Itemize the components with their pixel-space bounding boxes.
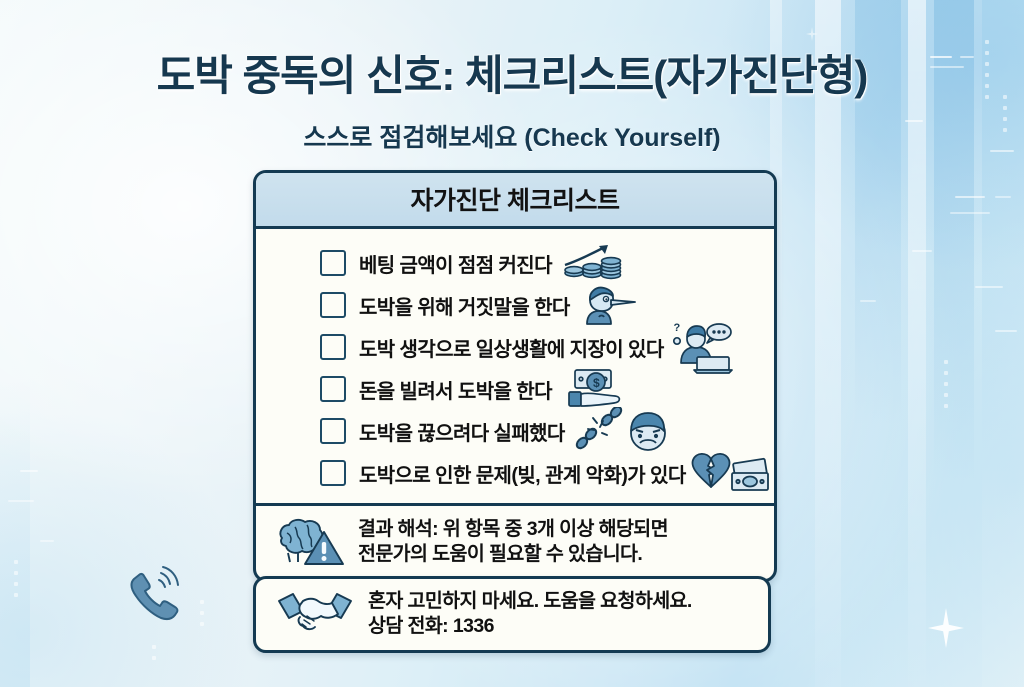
checklist-item[interactable]: 도박을 끊으려다 실패했다	[256, 410, 774, 452]
checklist-card: 자가진단 체크리스트 베팅 금액이 점점 커진다	[253, 170, 777, 582]
tech-band	[0, 380, 30, 687]
checkbox[interactable]	[320, 460, 346, 486]
checkbox[interactable]	[320, 334, 346, 360]
tech-band	[815, 0, 841, 687]
hand-money-icon: $	[559, 367, 627, 411]
checkbox[interactable]	[320, 418, 346, 444]
svg-text:$: $	[593, 376, 600, 390]
tech-tick	[20, 470, 38, 472]
tech-band	[855, 0, 901, 687]
help-text: 혼자 고민하지 마세요. 도움을 요청하세요. 상담 전화: 1336	[368, 589, 692, 639]
svg-text:?: ?	[673, 322, 680, 334]
checklist-item-label: 베팅 금액이 점점 커진다	[359, 249, 552, 278]
ringing-phone-icon	[128, 565, 186, 625]
checklist-item-label: 도박을 끊으려다 실패했다	[359, 417, 565, 446]
handshake-icon	[276, 589, 354, 639]
tech-dot-column	[200, 600, 204, 633]
rising-coins-icon	[559, 243, 625, 283]
checklist-item[interactable]: 베팅 금액이 점점 커진다	[256, 242, 774, 284]
tech-tick	[995, 196, 1011, 198]
tech-tick	[995, 330, 1017, 332]
result-interpretation-row: 결과 해석: 위 항목 중 3개 이상 해당되면 전문가의 도움이 필요할 수 …	[256, 503, 774, 579]
checklist-item[interactable]: 돈을 빌려서 도박을 한다 $	[256, 368, 774, 410]
result-line-1: 결과 해석: 위 항목 중 3개 이상 해당되면	[358, 517, 668, 542]
result-interpretation-text: 결과 해석: 위 항목 중 3개 이상 해당되면 전문가의 도움이 필요할 수 …	[358, 517, 668, 567]
checklist-item[interactable]: 도박 생각으로 일상생활에 지장이 있다	[256, 326, 774, 368]
tech-tick	[860, 300, 876, 302]
tech-dot-column	[152, 645, 156, 667]
checkbox[interactable]	[320, 292, 346, 318]
page-subtitle: 스스로 점검해보세요 (Check Yourself)	[0, 118, 1024, 154]
tech-dot-column	[944, 360, 948, 415]
distracted-person-laptop-icon: ?	[667, 319, 737, 375]
tech-band	[908, 0, 926, 687]
brain-warning-icon	[274, 515, 346, 569]
help-line-1: 혼자 고민하지 마세요. 도움을 요청하세요.	[368, 589, 692, 614]
long-nose-liar-icon	[577, 284, 639, 326]
tech-tick	[912, 250, 932, 252]
broken-chain-angry-face-icon	[572, 407, 670, 455]
tech-tick	[950, 212, 990, 214]
checklist-item[interactable]: 도박으로 인한 문제(빚, 관계 악화)가 있다	[256, 452, 774, 494]
tech-tick	[955, 196, 985, 198]
checklist-item-label: 도박을 위해 거짓말을 한다	[359, 291, 570, 320]
tech-band	[934, 0, 974, 687]
checklist-items: 베팅 금액이 점점 커진다	[256, 229, 774, 503]
checklist-item-label: 도박 생각으로 일상생활에 지장이 있다	[359, 333, 664, 362]
checkbox[interactable]	[320, 376, 346, 402]
checklist-card-header: 자가진단 체크리스트	[256, 173, 774, 229]
broken-heart-money-icon	[688, 449, 772, 497]
tech-tick	[40, 540, 54, 542]
checkbox[interactable]	[320, 250, 346, 276]
page-title: 도박 중독의 신호: 체크리스트(자가진단형)	[0, 42, 1024, 103]
result-line-2: 전문가의 도움이 필요할 수 있습니다.	[358, 542, 668, 567]
tech-tick	[975, 286, 1003, 288]
tech-tick	[8, 500, 34, 502]
checklist-item-label: 도박으로 인한 문제(빚, 관계 악화)가 있다	[359, 459, 686, 488]
help-card: 혼자 고민하지 마세요. 도움을 요청하세요. 상담 전화: 1336	[253, 576, 771, 653]
checklist-item-label: 돈을 빌려서 도박을 한다	[359, 375, 552, 404]
tech-dot-column	[14, 560, 18, 604]
help-line-2: 상담 전화: 1336	[368, 614, 692, 639]
